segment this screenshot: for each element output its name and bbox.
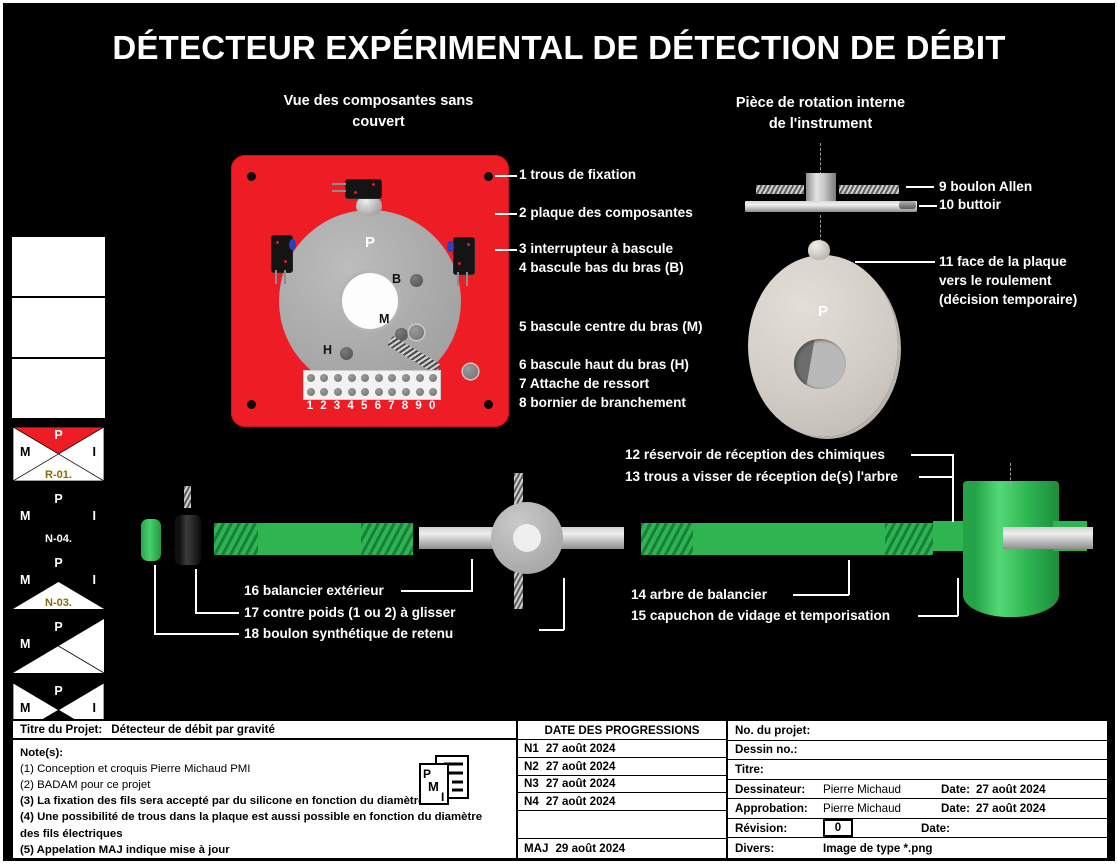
switch-lead [284,270,286,284]
terminal-screw [334,388,342,396]
plate-top-knob [808,240,830,260]
leader-line-12 [911,454,953,456]
terminal-row-bottom [304,385,440,399]
callout-8: 8 bornier de branchement [519,394,686,413]
progression-date: 27 août 2024 [546,795,616,808]
stamp-p: P [13,492,104,506]
callout-12: 12 réservoir de réception des chimiques [625,446,885,465]
thread-left [756,185,804,194]
terminal-number: 4 [347,400,353,412]
leader-line-17 [195,612,239,614]
progression-row: N1 27 août 2024 [518,740,726,758]
terminal-row-top [304,371,440,385]
callout-11-line1: 11 face de la plaque [939,253,1077,272]
callout-11-line2: vers le roulement [939,272,1077,291]
disc-label-p: P [279,234,461,251]
chemical-reservoir [963,481,1059,617]
callout-10: 10 buttoir [939,196,1001,215]
terminal-screw [388,374,396,382]
leader-line-14-v [848,560,850,595]
exterior-balancier [214,523,413,555]
stamp-m: M [20,701,30,715]
label-project-number: No. du projet: [735,724,817,737]
terminal-number: 2 [320,400,326,412]
switch-terminal-dot [458,262,461,265]
project-title-row: Titre du Projet: Détecteur de débit par … [13,721,516,740]
switch-terminal-dot [276,241,279,244]
buttoir-tip [899,201,916,209]
stamp-m: M [20,573,30,587]
stamp-m: M [20,637,30,651]
terminal-screw [361,374,369,382]
leader-line-18 [154,633,239,635]
blank-box-2 [11,297,106,358]
terminal-number: 3 [334,400,340,412]
callout-11-line3: (décision temporaire) [939,291,1077,310]
row-drawing-number: Dessin no.: [728,741,1107,761]
progression-row: N2 27 août 2024 [518,758,726,776]
heading-right-view: Pièce de rotation interne de l'instrumen… [708,93,933,135]
row-drafter: Dessinateur: Pierre Michaud Date: 27 aoû… [728,780,1107,800]
progression-date: 27 août 2024 [546,760,616,773]
terminal-screw [307,388,315,396]
terminal-screw [429,388,437,396]
component-plate-red: P B M H [231,155,509,427]
plate-label-p: P [748,303,898,320]
leader-line-13-v [952,476,954,522]
switch-lead [332,183,346,185]
progression-row-maj: MAJ 29 août 2024 [518,839,726,858]
callout-3: 3 interrupteur à bascule [519,240,673,259]
leader-line-11 [855,261,935,263]
revision-stamp-r01[interactable]: P M I R-01. [11,425,106,483]
terminal-number: 6 [375,400,381,412]
stamp-code: N-02. [13,661,104,673]
pin-label-h: H [323,343,332,357]
terminal-screw [402,374,410,382]
revision-stamp-n04[interactable]: P M I N-04. [11,489,106,547]
label-drafter-date: Date: [941,783,970,796]
thread-right [839,185,899,194]
stamp-p: P [13,620,104,634]
leader-line-16-v [471,559,473,591]
revision-stamp-column: P M I R-01. P M I N-04. P M I N-03. [11,236,106,739]
leader-line-3 [495,249,517,251]
title-block-right: No. du projet: Dessin no.: Titre: Dessin… [728,721,1107,858]
heading-left-view: Vue des composantes sans couvert [261,91,496,133]
terminal-screw [416,388,424,396]
value-drafter-date[interactable]: 27 août 2024 [976,783,1046,796]
stamp-m: M [20,509,30,523]
label-drafter: Dessinateur: [735,783,817,796]
terminal-screw [388,388,396,396]
progression-tag: N4 [524,795,539,808]
leader-line-14 [793,594,849,596]
pin-label-m: M [379,312,389,326]
stamp-p: P [13,428,104,442]
heading-right-line2: de l'instrument [708,114,933,135]
bolt-plate [745,201,917,212]
heading-right-line1: Pièce de rotation interne [708,93,933,114]
progressions-header: DATE DES PROGRESSIONS [518,721,726,740]
pmi-document-logo-icon: P M I [418,754,474,812]
callout-13: 13 trous a visser de réception de(s) l'a… [625,468,898,487]
label-drawing-number: Dessin no.: [735,743,817,756]
switch-lead [466,272,468,286]
svg-text:M: M [428,779,439,794]
label-approval-date: Date: [941,802,970,815]
terminal-number: 5 [361,400,367,412]
leader-line-18-v [154,565,156,634]
row-approval: Approbation: Pierre Michaud Date: 27 aoû… [728,799,1107,819]
svg-text:I: I [441,790,444,804]
plate-bore [794,339,846,389]
center-axis-dash-top [820,143,821,175]
thread-section [885,523,933,555]
terminal-screw [320,388,328,396]
label-revision: Révision: [735,822,817,835]
notes-section: Note(s): (1) Conception et croquis Pierr… [13,740,516,858]
switch-lead [457,272,459,286]
micro-switch-top [345,179,382,199]
label-title: Titre: [735,763,817,776]
callout-2: 2 plaque des composantes [519,204,693,223]
switch-actuator-left [289,239,296,250]
leader-line-13 [919,476,953,478]
terminal-block [303,370,441,400]
row-revision: Révision: 0 Date: [728,819,1107,839]
terminal-numbers: 1 2 3 4 5 6 7 8 9 0 [303,400,439,412]
terminal-screw [320,374,328,382]
note-item-4: (4) Une possibilité de trous dans la pla… [20,809,509,825]
progression-tag: N3 [524,777,539,790]
progression-row-empty [518,811,726,839]
stamp-p: P [13,556,104,570]
spring-anchor-upper [409,325,424,340]
progression-tag: MAJ [524,842,548,855]
thread-section [641,523,693,555]
terminal-screw [307,374,315,382]
title-block-left: Titre du Projet: Détecteur de débit par … [13,721,518,858]
thread-section [214,523,258,555]
page-title: DÉTECTEUR EXPÉRIMENTAL DE DÉTECTION DE D… [3,29,1115,67]
reservoir-axis-dash [1010,463,1011,485]
switch-terminal-dot [372,183,375,186]
pin-b [410,274,423,287]
value-divers[interactable]: Image de type *.png [823,842,933,855]
revision-stamp-n03[interactable]: P M I N-03. [11,553,106,611]
leader-line-15 [918,615,958,617]
leader-line-17-v [195,569,197,613]
stamp-code: N-03. [13,597,104,609]
progression-date: 29 août 2024 [555,842,625,855]
fixation-hole-top-right [484,172,493,181]
terminal-screw [334,374,342,382]
leader-line-1 [495,175,517,177]
progression-date: 27 août 2024 [546,742,616,755]
terminal-number: 9 [415,400,421,412]
fixation-hole-top-left [247,172,256,181]
note-item-4b: des fils électriques [20,826,509,842]
blank-box-3 [11,358,106,419]
revision-value-box[interactable]: 0 [823,819,853,837]
callout-4: 4 bascule bas du bras (B) [519,259,684,278]
terminal-number: 7 [388,400,394,412]
thread-section [361,523,413,555]
terminal-screw [429,374,437,382]
heading-left-line1: Vue des composantes sans [261,91,496,112]
leader-line-16 [401,590,473,592]
callout-18: 18 boulon synthétique de retenu [244,625,453,644]
switch-lead [275,270,277,284]
switch-terminal-dot [354,191,357,194]
blank-box-1 [11,236,106,297]
callout-6: 6 bascule haut du bras (H) [519,356,689,375]
label-divers: Divers: [735,842,817,855]
switch-terminal-dot [284,260,287,263]
shaft-right-end [1003,527,1093,549]
bearing-face-plate: P [748,255,898,437]
terminal-number: 8 [402,400,408,412]
fixation-hole-bottom-left [247,400,256,409]
stamp-i: I [93,509,96,523]
terminal-number: 0 [429,400,435,412]
progressions-table: DATE DES PROGRESSIONS N1 27 août 2024 N2… [518,721,728,858]
spring-anchor-lower [463,364,478,379]
callout-5: 5 bascule centre du bras (M) [519,318,703,337]
label-revision-date: Date: [921,822,950,835]
leader-line-10 [919,205,937,207]
hub-stud-top [514,473,523,505]
hub-bore [513,524,541,552]
callout-16: 16 balancier extérieur [244,582,384,601]
terminal-screw [348,388,356,396]
hub-dimension-hline [539,629,564,631]
terminal-screw [375,388,383,396]
allen-bolt-hub [806,173,836,203]
switch-terminal-dot [467,243,470,246]
terminal-screw [375,374,383,382]
counterweight-stud [184,486,191,508]
project-title-label: Titre du Projet: [20,723,102,736]
terminal-screw [348,374,356,382]
drawing-sheet: DÉTECTEUR EXPÉRIMENTAL DE DÉTECTION DE D… [0,0,1118,864]
callout-7: 7 Attache de ressort [519,375,649,394]
pin-h [340,347,353,360]
row-title: Titre: [728,760,1107,780]
row-divers: Divers: Image de type *.png [728,838,1107,858]
progression-tag: N2 [524,760,539,773]
terminal-screw [361,388,369,396]
balancier-shaft [641,523,933,555]
central-hub-ring [491,502,563,574]
leader-line-9 [906,186,934,188]
row-project-number: No. du projet: [728,721,1107,741]
stamp-i: I [93,701,96,715]
callout-1: 1 trous de fixation [519,166,636,185]
stamp-code: R-01. [13,469,104,481]
hub-dimension-vline [563,578,565,630]
revision-stamp-n02[interactable]: P M I N-02. [11,617,106,675]
stamp-i: I [93,445,96,459]
value-approval-date[interactable]: 27 août 2024 [976,802,1046,815]
disc-center-hole [342,273,398,329]
progression-tag: N1 [524,742,539,755]
title-block: Titre du Projet: Détecteur de débit par … [11,719,1109,860]
stamp-code: N-04. [13,533,104,545]
stamp-i: I [93,573,96,587]
callout-9: 9 boulon Allen [939,178,1032,197]
value-drafter[interactable]: Pierre Michaud [823,783,935,796]
hub-stud-bottom [514,571,523,609]
terminal-screw [402,388,410,396]
progression-row: N3 27 août 2024 [518,776,726,794]
switch-actuator-right [447,241,454,252]
callout-15: 15 capuchon de vidage et temporisation [631,607,890,626]
value-approval[interactable]: Pierre Michaud [823,802,935,815]
stamp-p: P [13,684,104,698]
note-item-5: (5) Appelation MAJ indique mise à jour [20,842,509,858]
project-title-value[interactable]: Détecteur de débit par gravité [111,723,275,736]
callout-17: 17 contre poids (1 ou 2) à glisser [244,604,456,623]
leader-line-12-v [952,454,954,476]
leader-line-2 [495,213,517,215]
leader-line-15-v [957,578,959,616]
fixation-hole-bottom-right [484,400,493,409]
progression-date: 27 août 2024 [546,777,616,790]
switch-lead [332,190,346,192]
terminal-screw [416,374,424,382]
pin-label-b: B [392,272,401,286]
counterweight [175,515,201,565]
callout-14: 14 arbre de balancier [631,586,767,605]
terminal-number: 1 [307,400,313,412]
heading-left-line2: couvert [261,112,496,133]
synthetic-retaining-bolt [141,519,161,561]
micro-switch-right [453,237,475,275]
stamp-m: M [20,445,30,459]
label-approval: Approbation: [735,802,817,815]
callout-11: 11 face de la plaque vers le roulement (… [939,253,1077,309]
progression-row: N4 27 août 2024 [518,793,726,811]
stamp-i: I [93,637,96,651]
